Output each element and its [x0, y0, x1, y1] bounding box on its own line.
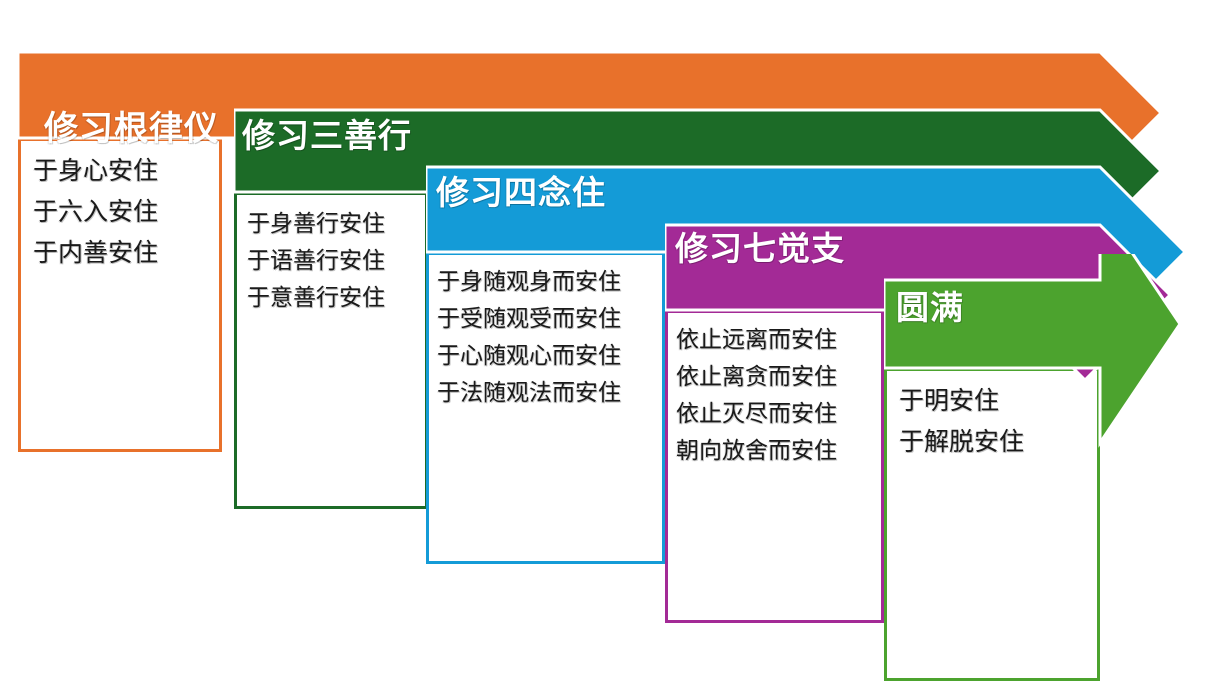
stage-2-body-box: 于身善行安住于语善行安住于意善行安住 — [234, 192, 428, 509]
stage-4-body-box: 依止远离而安住依止离贪而安住依止灭尽而安住朝向放舍而安住 — [665, 310, 884, 623]
stage-2-header-label: 修习三善行 — [242, 118, 412, 157]
stage-4-item-list: 依止远离而安住依止离贪而安住依止灭尽而安住朝向放舍而安住 — [668, 313, 881, 469]
list-item: 于意善行安住 — [247, 279, 425, 316]
list-item: 于内善安住 — [33, 233, 219, 274]
list-item: 朝向放舍而安住 — [676, 432, 881, 469]
stage-3-item-list: 于身随观身而安住于受随观受而安住于心随观心而安住于法随观法而安住 — [429, 255, 662, 411]
list-item: 于心随观心而安住 — [437, 337, 662, 374]
list-item: 于身善行安住 — [247, 205, 425, 242]
list-item: 于受随观受而安住 — [437, 300, 662, 337]
stage-3-body-box: 于身随观身而安住于受随观受而安住于心随观心而安住于法随观法而安住 — [426, 252, 665, 564]
list-item: 于法随观法而安住 — [437, 374, 662, 411]
list-item: 于身随观身而安住 — [437, 263, 662, 300]
list-item: 于语善行安住 — [247, 242, 425, 279]
stage-4-header-label: 修习七觉支 — [675, 231, 845, 270]
list-item: 依止远离而安住 — [676, 321, 881, 358]
list-item: 于身心安住 — [33, 151, 219, 192]
list-item: 于六入安住 — [33, 192, 219, 233]
stage-2-item-list: 于身善行安住于语善行安住于意善行安住 — [237, 195, 425, 316]
list-item: 依止灭尽而安住 — [676, 395, 881, 432]
stage-5-item-list: 于明安住于解脱安住 — [887, 371, 1097, 463]
list-item: 于明安住 — [899, 381, 1097, 422]
diagram-canvas: 于身心安住于六入安住于内善安住修习根律仪于身善行安住于语善行安住于意善行安住修习… — [0, 0, 1219, 687]
stage-1-body-box: 于身心安住于六入安住于内善安住 — [18, 138, 222, 452]
stage-1-item-list: 于身心安住于六入安住于内善安住 — [21, 141, 219, 274]
stage-5-header-label: 圆满 — [896, 290, 964, 329]
stage-5-body-box: 于明安住于解脱安住 — [884, 368, 1100, 681]
stage-3-header-label: 修习四念住 — [436, 175, 606, 214]
list-item: 于解脱安住 — [899, 422, 1097, 463]
list-item: 依止离贪而安住 — [676, 358, 881, 395]
